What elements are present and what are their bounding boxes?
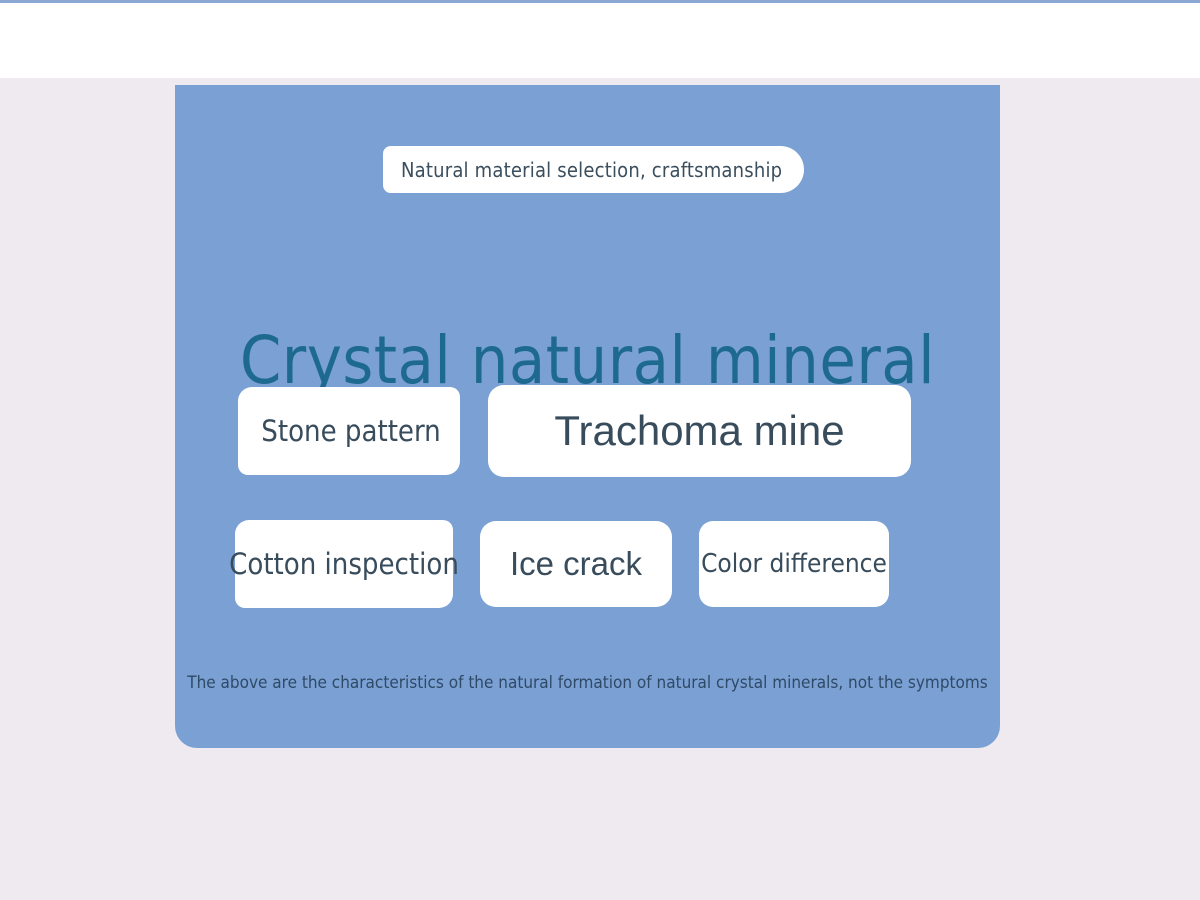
feature-tag-trachoma-mine[interactable]: Trachoma mine	[488, 385, 911, 477]
subtitle-text: Natural material selection, craftsmanshi…	[401, 158, 782, 182]
feature-tag-cotton-inspection[interactable]: Cotton inspection	[235, 520, 453, 608]
feature-tag-label: Color difference	[701, 549, 887, 579]
feature-tag-row-2: Cotton inspection Ice crack Color differ…	[235, 520, 889, 608]
disclaimer-text: The above are the characteristics of the…	[187, 673, 988, 693]
disclaimer-note: The above are the characteristics of the…	[175, 673, 1000, 693]
feature-tag-row-1: Stone pattern Trachoma mine	[238, 385, 911, 477]
feature-tag-label: Cotton inspection	[229, 547, 459, 581]
feature-tag-label: Ice crack	[510, 545, 642, 583]
subtitle-pill: Natural material selection, craftsmanshi…	[383, 146, 804, 193]
promo-card: Natural material selection, craftsmanshi…	[175, 85, 1000, 748]
feature-tag-label: Stone pattern	[261, 414, 440, 448]
feature-tag-label: Trachoma mine	[554, 407, 844, 455]
feature-tag-color-difference[interactable]: Color difference	[699, 521, 889, 607]
feature-tag-ice-crack[interactable]: Ice crack	[480, 521, 672, 607]
feature-tag-stone-pattern[interactable]: Stone pattern	[238, 387, 460, 475]
top-white-band	[0, 3, 1200, 78]
